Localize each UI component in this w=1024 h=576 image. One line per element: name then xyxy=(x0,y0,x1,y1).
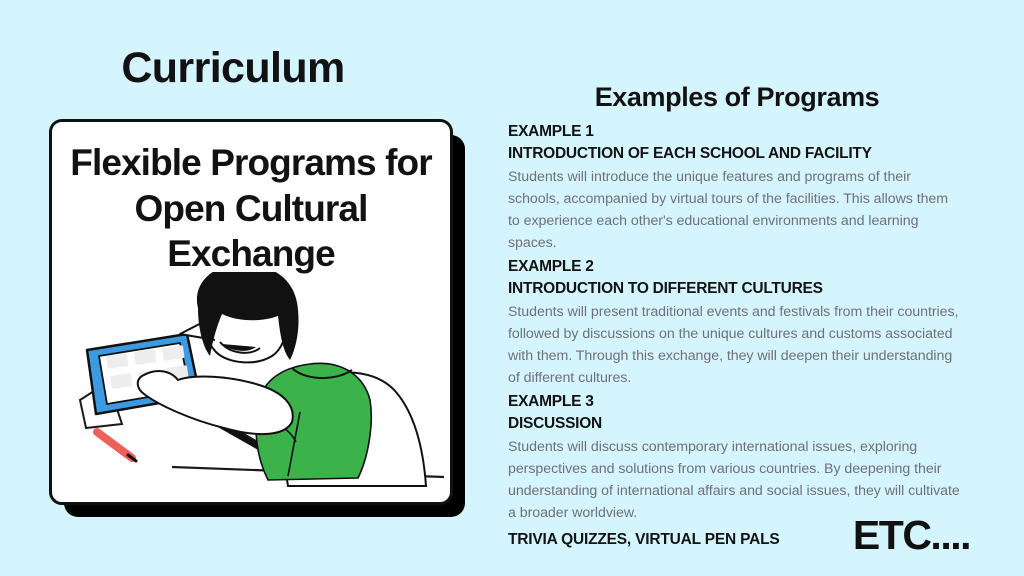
example-label: EXAMPLE 1 xyxy=(508,121,963,143)
example-heading: DISCUSSION xyxy=(508,413,963,435)
example-heading: INTRODUCTION TO DIFFERENT CULTURES xyxy=(508,278,963,300)
right-column: Examples of Programs EXAMPLE 1 INTRODUCT… xyxy=(507,0,977,576)
example-block: EXAMPLE 1 INTRODUCTION OF EACH SCHOOL AN… xyxy=(508,121,963,254)
example-block: EXAMPLE 3 DISCUSSION Students will discu… xyxy=(508,391,963,524)
left-column: Curriculum Flexible Programs for Open Cu… xyxy=(0,0,480,576)
footer-row: TRIVIA QUIZZES, VIRTUAL PEN PALS ETC.... xyxy=(508,516,970,555)
example-label: EXAMPLE 3 xyxy=(508,391,963,413)
examples-list: EXAMPLE 1 INTRODUCTION OF EACH SCHOOL AN… xyxy=(508,121,963,526)
example-body: Students will discuss contemporary inter… xyxy=(508,436,963,524)
example-label: EXAMPLE 2 xyxy=(508,256,963,278)
curriculum-card: Flexible Programs for Open Cultural Exch… xyxy=(49,119,453,505)
example-body: Students will introduce the unique featu… xyxy=(508,166,963,254)
etc-text: ETC.... xyxy=(853,516,970,555)
example-heading: INTRODUCTION OF EACH SCHOOL AND FACILITY xyxy=(508,143,963,165)
pencil-icon xyxy=(97,432,136,461)
card-title: Flexible Programs for Open Cultural Exch… xyxy=(68,140,434,277)
page-title: Curriculum xyxy=(0,46,466,91)
programs-section-title: Examples of Programs xyxy=(507,82,967,113)
example-block: EXAMPLE 2 INTRODUCTION TO DIFFERENT CULT… xyxy=(508,256,963,389)
desk-illustration xyxy=(52,272,444,502)
footer-note: TRIVIA QUIZZES, VIRTUAL PEN PALS xyxy=(508,531,779,555)
slide-canvas: Curriculum Flexible Programs for Open Cu… xyxy=(0,0,1024,576)
example-body: Students will present traditional events… xyxy=(508,301,963,389)
